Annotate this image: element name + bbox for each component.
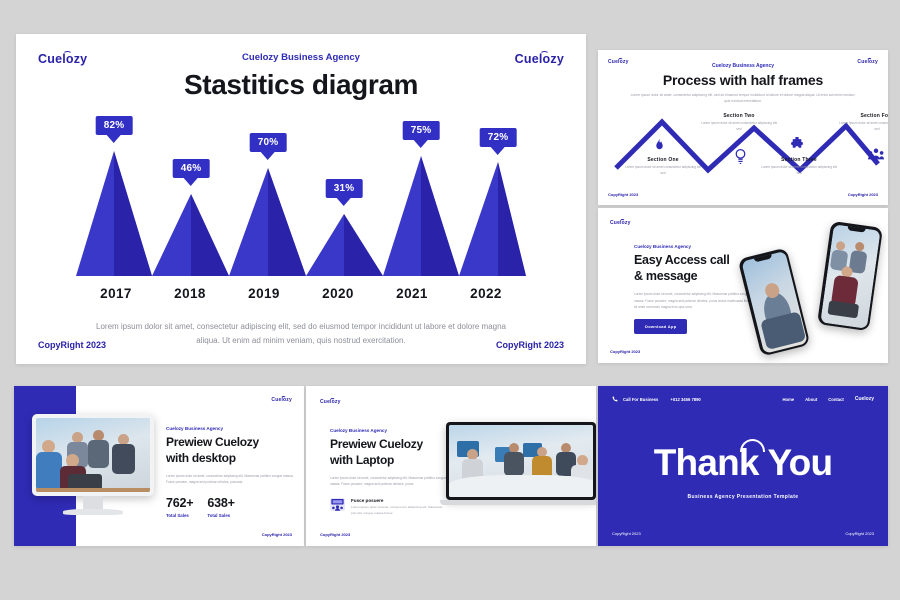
section-heading: Section Three [760, 157, 838, 163]
headline: Thank You [654, 442, 833, 484]
chart-area: 82% 46% 70% 31% 75% 72% [16, 126, 586, 278]
section-text: Lorem ipsum dolor sit amet consectetur a… [760, 165, 838, 177]
logo-arc [620, 219, 625, 223]
callout-2019: 70% [250, 133, 287, 160]
callout-value: 70% [250, 133, 287, 152]
logo-cuelozy-right: Cuelozy [855, 396, 874, 402]
section-text: Lorem ipsum dolor sit amet consectetur a… [624, 165, 702, 177]
team-photo [36, 418, 150, 492]
phone-front [817, 221, 883, 331]
slide-statistics[interactable]: Cuelozy Cuelozy Cuelozy Business Agency … [16, 34, 586, 364]
download-app-button[interactable]: Download App [634, 319, 687, 334]
nav-links: Home About Contact Cuelozy [783, 396, 875, 402]
logo-cuelozy-right: Cuelozy [271, 397, 292, 403]
person [504, 452, 524, 476]
footer-copyright-right: CopyRight 2023 [262, 532, 292, 537]
call-label: Call For Business [623, 397, 658, 402]
body-text: Lorem ipsum dolor sit amet, consectetur … [634, 291, 754, 310]
title-line-1: Prewiew Cuelozy [166, 435, 259, 449]
monitor-neck [83, 496, 103, 509]
flame-icon [653, 138, 666, 153]
easy-access-content: Cuelozy Business Agency Easy Access call… [634, 244, 754, 334]
slide-process[interactable]: Cuelozy Cuelozy Cuelozy Business Agency … [598, 50, 888, 205]
body-text: Lorem ipsum dolor sit amet, consectetur … [330, 475, 448, 487]
footer-copyright-left: CopyRight 2023 [610, 349, 640, 354]
eyebrow: Cuelozy Business Agency [330, 428, 448, 433]
x-tick: 2021 [375, 286, 449, 301]
monitor-base [63, 509, 123, 515]
logo-cuelozy-left: Cuelozy [608, 59, 629, 65]
feature-heading: Fusce posuere [351, 498, 448, 503]
person [112, 444, 135, 474]
nav-item-about[interactable]: About [805, 397, 817, 402]
callout-tail [337, 198, 351, 206]
x-tick: 2020 [301, 286, 375, 301]
title-line-2: with Laptop [330, 453, 394, 467]
logo-arc [330, 398, 335, 402]
desktop-content: Cuelozy Business Agency Prewiew Cuelozy … [166, 426, 294, 518]
stat-label: Total Sales [207, 513, 234, 518]
stats-row: 762+ Total Sales 638+ Total Sales [166, 496, 294, 518]
phone-screen [741, 250, 808, 353]
desk [36, 488, 150, 492]
phone-mockups [747, 222, 882, 352]
callout-2020: 31% [326, 179, 363, 206]
footer-copyright-left: CopyRight 2023 [320, 532, 350, 537]
call-for-business[interactable]: Call For Business +012 3456 7890 [612, 396, 701, 402]
stat-item: 638+ Total Sales [207, 496, 234, 518]
mountain-area-chart [76, 126, 526, 278]
logo-cuelozy-right: Cuelozy [857, 59, 878, 65]
eyebrow: Cuelozy Business Agency [16, 52, 586, 63]
process-section-four: Section Four Lorem ipsum dolor sit amet … [838, 113, 888, 133]
page-title: Process with half frames [598, 72, 888, 88]
desktop-monitor-mockup [32, 414, 154, 519]
callout-value: 72% [480, 128, 517, 147]
slide-header: Cuelozy Business Agency Process with hal… [598, 50, 888, 104]
callout-value: 31% [326, 179, 363, 198]
footer-copyright-left: CopyRight 2023 [38, 340, 106, 350]
slide-easy-access[interactable]: Cuelozy Cuelozy Business Agency Easy Acc… [598, 208, 888, 363]
logo-arc [618, 58, 623, 62]
section-heading: Section One [624, 157, 702, 163]
feature-item: Fusce posuere Lorem ipsum dolor sit amet… [330, 498, 448, 517]
slide-header: Cuelozy Business Agency Stastitics diagr… [16, 52, 586, 101]
stat-item: 762+ Total Sales [166, 496, 193, 518]
eyebrow: Cuelozy Business Agency [634, 244, 754, 249]
logo-cuelozy-left: Cuelozy [610, 220, 631, 226]
thank-you-center: Thank You Business Agency Presentation T… [598, 442, 888, 500]
x-tick: 2019 [227, 286, 301, 301]
callout-tail [107, 135, 121, 143]
monitor-bezel [32, 414, 154, 496]
section-text: Lorem ipsum dolor sit amet consectetur a… [838, 121, 888, 133]
footer-copyright-left: CopyRight 2023 [608, 192, 638, 197]
subtitle: Lorem ipsum dolor sit amet, consectetur … [628, 92, 858, 104]
process-section-one: Section One Lorem ipsum dolor sit amet c… [624, 157, 702, 177]
top-navbar: Call For Business +012 3456 7890 Home Ab… [598, 386, 888, 412]
conference-table [449, 475, 593, 497]
callout-2018: 46% [173, 159, 210, 186]
x-axis-labels: 2017 2018 2019 2020 2021 2022 [16, 286, 586, 301]
stat-label: Total Sales [166, 513, 193, 518]
footer-copyright-left: CopyRight 2023 [612, 531, 641, 536]
callout-tail [261, 152, 275, 160]
callout-tail [491, 147, 505, 155]
title-line-2: & message [634, 269, 697, 283]
callout-tail [414, 140, 428, 148]
page-title: Prewiew Cuelozy with desktop [166, 435, 294, 466]
slide-grid: Cuelozy Cuelozy Cuelozy Business Agency … [0, 0, 900, 600]
feature-text-block: Fusce posuere Lorem ipsum dolor sit amet… [351, 498, 448, 517]
nav-item-contact[interactable]: Contact [828, 397, 844, 402]
phone-icon [612, 396, 618, 402]
nav-item-home[interactable]: Home [783, 397, 795, 402]
people-icon [868, 148, 884, 160]
callout-tail [184, 178, 198, 186]
eyebrow: Cuelozy Business Agency [166, 426, 294, 431]
section-heading: Section Two [700, 113, 778, 119]
title-line-1: Easy Access call [634, 253, 730, 267]
footer-copyright-right: CopyRight 2023 [496, 340, 564, 350]
puzzle-icon [790, 137, 804, 151]
section-text: Lorem ipsum dolor sit amet consectetur a… [700, 121, 778, 133]
process-section-two: Section Two Lorem ipsum dolor sit amet c… [700, 113, 778, 133]
phone-back [738, 247, 811, 356]
callout-value: 75% [403, 121, 440, 140]
slide-laptop-preview[interactable]: Cuelozy Cuelozy Business Agency Prewiew … [306, 386, 596, 546]
lightbulb-icon [734, 148, 747, 164]
laptop-mockup [446, 422, 596, 514]
x-tick: 2017 [79, 286, 153, 301]
process-section-three: Section Three Lorem ipsum dolor sit amet… [760, 157, 838, 177]
callout-2017: 82% [96, 116, 133, 143]
callout-value: 82% [96, 116, 133, 135]
logo-text: Cuelozy [855, 396, 874, 402]
body-paragraph: Lorem ipsum dolor sit amet, consectetur … [88, 320, 514, 348]
feature-text: Lorem ipsum dolor sit amet, consect etur… [351, 505, 448, 517]
body-text: Lorem ipsum dolor sit amet, consectetur … [166, 473, 294, 485]
logo-arc [867, 58, 872, 62]
person [88, 440, 109, 468]
footer-copyright-right: CopyRight 2023 [845, 531, 874, 536]
phone-screen [820, 224, 880, 329]
group-photo [820, 224, 880, 329]
x-tick: 2018 [153, 286, 227, 301]
tagline: Business Agency Presentation Template [598, 494, 888, 500]
title-line-2: with desktop [166, 451, 236, 465]
slide-thank-you[interactable]: Call For Business +012 3456 7890 Home Ab… [598, 386, 888, 546]
page-title: Prewiew Cuelozy with Laptop [330, 437, 448, 468]
phone-number[interactable]: +012 3456 7890 [670, 397, 700, 402]
callout-value: 46% [173, 159, 210, 178]
stat-value: 638+ [207, 496, 234, 510]
x-tick: 2022 [449, 286, 523, 301]
logo-cuelozy-left: Cuelozy [320, 399, 341, 405]
presentation-icon [330, 498, 345, 511]
callout-2022: 72% [480, 128, 517, 155]
callout-2021: 75% [403, 121, 440, 148]
footer-copyright-right: CopyRight 2023 [848, 192, 878, 197]
page-title: Stastitics diagram [16, 69, 586, 101]
headline-arc [740, 439, 765, 452]
laptop-lid [446, 422, 596, 500]
office-photo [449, 425, 593, 497]
monitor-screen [36, 418, 150, 492]
video-call-photo [741, 250, 808, 353]
stat-value: 762+ [166, 496, 193, 510]
section-heading: Section Four [838, 113, 888, 119]
logo-arc [281, 396, 286, 400]
person [36, 452, 62, 492]
eyebrow: Cuelozy Business Agency [598, 63, 888, 69]
page-title: Easy Access call & message [634, 253, 754, 284]
slide-desktop-preview[interactable]: Cuelozy [14, 386, 304, 546]
laptop-screen [449, 425, 593, 497]
title-line-1: Prewiew Cuelozy [330, 437, 423, 451]
laptop-deck [440, 500, 596, 505]
laptop-content: Cuelozy Business Agency Prewiew Cuelozy … [330, 428, 448, 516]
